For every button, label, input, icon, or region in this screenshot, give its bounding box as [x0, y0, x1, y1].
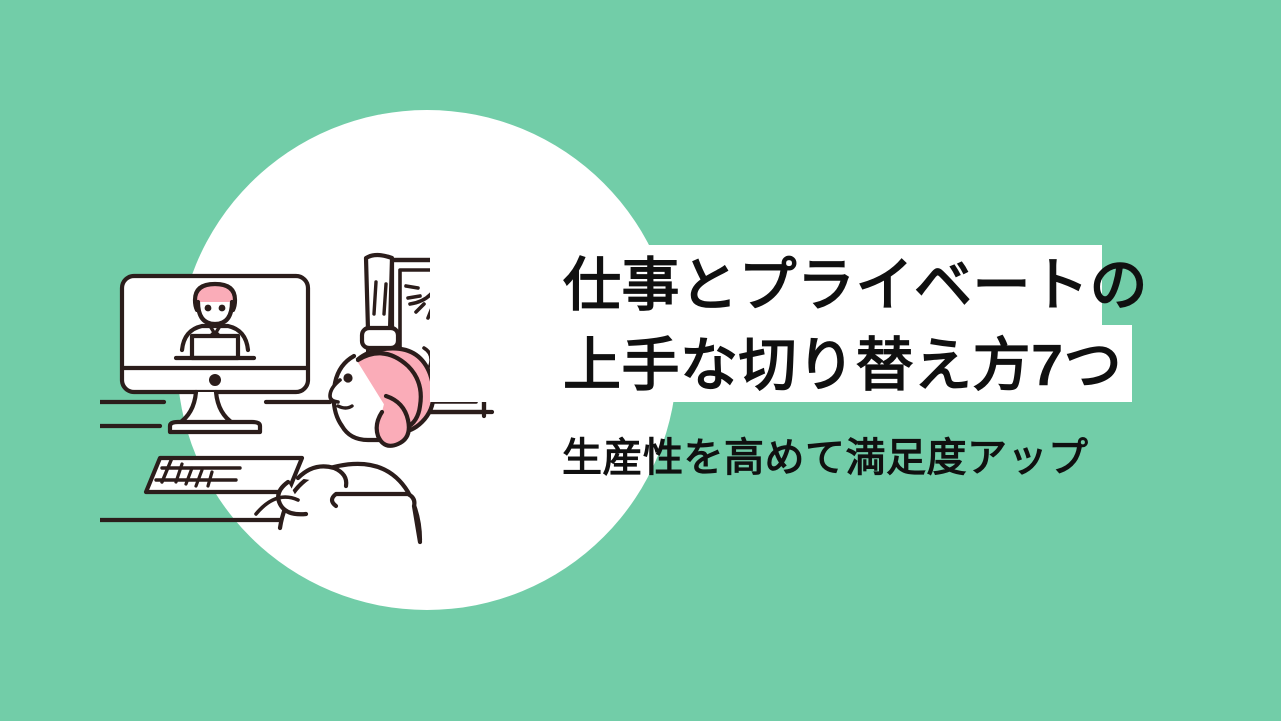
keyboard-icon [146, 458, 302, 492]
banner-title-line-1: 仕事とプライベートの [563, 246, 1163, 326]
banner-title-line-2: 上手な切り替え方7つ [563, 326, 1163, 406]
banner-subtitle: 生産性を高めて満足度アップ [562, 430, 1089, 486]
banner-title: 仕事とプライベートの 上手な切り替え方7つ [563, 246, 1163, 406]
banner-canvas: 仕事とプライベートの 上手な切り替え方7つ 生産性を高めて満足度アップ [0, 0, 1281, 721]
